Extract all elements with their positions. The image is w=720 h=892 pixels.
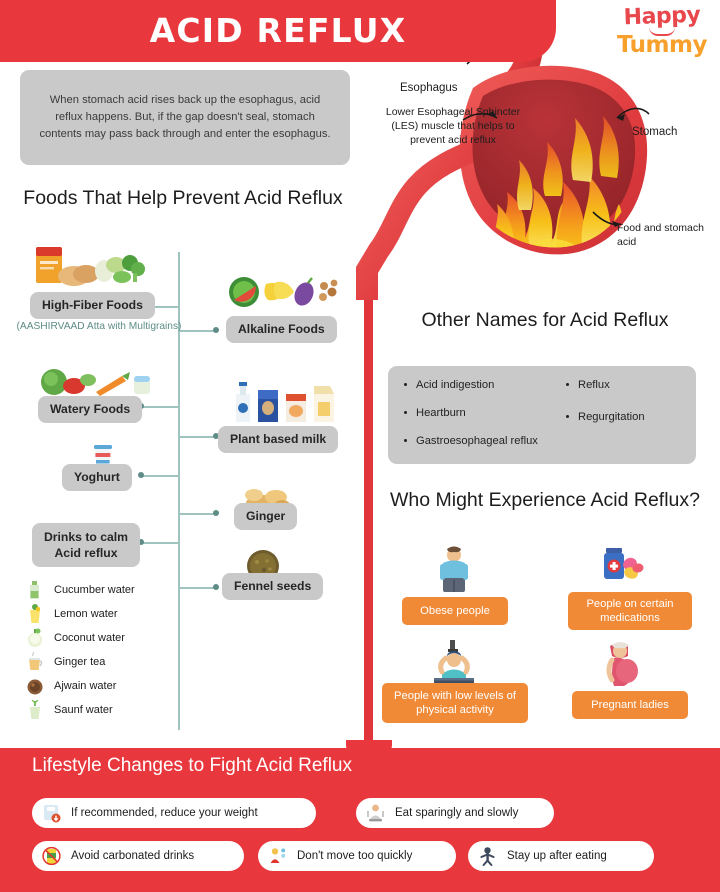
weight-scale-icon <box>42 803 61 823</box>
chip-high-fiber-foods[interactable]: High-Fiber Foods <box>30 292 155 319</box>
milk-cartons-icon <box>230 380 345 424</box>
soda-can-crossed-icon <box>42 846 61 866</box>
lifestyle-label: If recommended, reduce your weight <box>71 807 258 819</box>
branch-dot-right-3 <box>213 510 219 516</box>
lifestyle-item-avoid-carbonated[interactable]: Avoid carbonated drinks <box>32 841 244 871</box>
drink-label: Cucumber water <box>54 584 135 596</box>
lettuce-carrot-cucumber-icon <box>38 364 156 400</box>
lifestyle-item-dont-move-quickly[interactable]: Don't move too quickly <box>258 841 456 871</box>
other-name-item: Gastroesophageal reflux <box>402 434 557 449</box>
chip-alkaline-foods[interactable]: Alkaline Foods <box>226 316 337 343</box>
ajwain-water-icon <box>26 676 44 696</box>
atta-packet-and-vegetables-icon <box>30 243 160 291</box>
who-pill-people-with-low-physical-activity[interactable]: People with low levels of physical activ… <box>382 683 528 723</box>
list-item-drink: Cucumber water <box>26 578 176 602</box>
chip-ginger[interactable]: Ginger <box>234 503 297 530</box>
intro-text: When stomach acid rises back up the esop… <box>38 92 332 143</box>
other-name-item: Reflux <box>564 378 689 393</box>
other-names-column-2: Reflux Regurgitation <box>564 378 689 438</box>
other-name-item: Acid indigestion <box>402 378 557 393</box>
lifestyle-section-title: Lifestyle Changes to Fight Acid Reflux <box>32 755 352 777</box>
list-item-drink: Ginger tea <box>26 650 176 674</box>
watermelon-banana-eggplant-nuts-icon <box>226 272 346 312</box>
drink-label: Ajwain water <box>54 680 116 692</box>
cucumber-water-bottle-icon <box>26 580 44 600</box>
list-item-drink: Coconut water <box>26 626 176 650</box>
logo-happy-text: Happy <box>612 4 713 29</box>
who-pill-obese-people[interactable]: Obese people <box>402 597 508 625</box>
branch-line-left-3 <box>140 475 178 477</box>
other-name-item: Heartburn <box>402 406 557 421</box>
page-title: ACID REFLUX <box>0 11 556 50</box>
person-at-desk-icon <box>428 640 480 686</box>
header-bar: ACID REFLUX <box>0 0 556 62</box>
drink-label: Saunf water <box>54 704 113 716</box>
branch-line-left-2 <box>140 406 178 408</box>
other-names-column-1: Acid indigestion Heartburn Gastroesophag… <box>402 378 557 462</box>
lifestyle-item-reduce-weight[interactable]: If recommended, reduce your weight <box>32 798 316 828</box>
coconut-water-icon <box>26 628 44 648</box>
other-names-box: Acid indigestion Heartburn Gastroesophag… <box>388 366 696 464</box>
pill-bottle-icon <box>598 542 646 590</box>
label-lower-esophageal-sphincter: Lower Esophageal Sphincter (LES) muscle … <box>380 105 526 147</box>
branch-dot-right-4 <box>213 584 219 590</box>
list-item-drink: Ajwain water <box>26 674 176 698</box>
label-stomach: Stomach <box>632 125 677 139</box>
obese-person-icon <box>436 546 472 594</box>
infographic-page: ACID REFLUX Happy Tummy When stomach aci… <box>0 0 720 892</box>
label-food-and-stomach-acid: Food and stomach acid <box>617 221 713 249</box>
chip-watery-foods[interactable]: Watery Foods <box>38 396 142 423</box>
other-names-section-title: Other Names for Acid Reflux <box>385 308 705 333</box>
drink-label: Lemon water <box>54 608 118 620</box>
saunf-water-glass-icon <box>26 700 44 720</box>
drink-label: Ginger tea <box>54 656 105 668</box>
happy-tummy-logo: Happy Tummy <box>612 6 712 68</box>
foods-section-title: Foods That Help Prevent Acid Reflux <box>18 186 348 211</box>
chip-plant-based-milk[interactable]: Plant based milk <box>218 426 338 453</box>
who-section-title: Who Might Experience Acid Reflux? <box>385 488 705 513</box>
branch-line-right-3 <box>178 513 216 515</box>
lifestyle-label: Don't move too quickly <box>297 850 412 862</box>
standing-person-icon <box>478 846 497 866</box>
person-eating-icon <box>366 803 385 823</box>
chip-yoghurt[interactable]: Yoghurt <box>62 464 132 491</box>
lifestyle-label: Stay up after eating <box>507 850 607 862</box>
person-moving-icon <box>268 846 287 866</box>
lifestyle-item-stay-up-after-eating[interactable]: Stay up after eating <box>468 841 654 871</box>
list-item-drink: Saunf water <box>26 698 176 722</box>
pregnant-woman-icon <box>602 640 642 690</box>
label-esophagus: Esophagus <box>400 81 458 95</box>
chip-fennel-seeds[interactable]: Fennel seeds <box>222 573 323 600</box>
lemon-water-glass-icon <box>26 604 44 624</box>
lifestyle-label: Avoid carbonated drinks <box>71 850 194 862</box>
lifestyle-label: Eat sparingly and slowly <box>395 807 518 819</box>
ginger-tea-cup-icon <box>26 652 44 672</box>
lifestyle-item-eat-slowly[interactable]: Eat sparingly and slowly <box>356 798 554 828</box>
chip-drinks-to-calm-acid-reflux[interactable]: Drinks to calm Acid reflux <box>32 523 140 567</box>
drinks-list: Cucumber water Lemon water Coconut water… <box>26 578 176 722</box>
branch-dot-right-1 <box>213 327 219 333</box>
branch-line-right-2 <box>178 436 216 438</box>
note-aashirvaad-atta: (AASHIRVAAD Atta with Multigrains) <box>14 320 184 334</box>
who-pill-pregnant-ladies[interactable]: Pregnant ladies <box>572 691 688 719</box>
branch-dot-left-3 <box>138 472 144 478</box>
intro-description-box: When stomach acid rises back up the esop… <box>20 70 350 165</box>
other-name-item: Regurgitation <box>564 410 689 425</box>
who-pill-people-on-certain-medications[interactable]: People on certain medications <box>568 592 692 630</box>
branch-line-right-4 <box>178 587 216 589</box>
list-item-drink: Lemon water <box>26 602 176 626</box>
drink-label: Coconut water <box>54 632 125 644</box>
vertical-red-divider <box>364 300 373 740</box>
branch-line-left-4 <box>140 542 178 544</box>
logo-tummy-text: Tummy <box>612 34 712 57</box>
